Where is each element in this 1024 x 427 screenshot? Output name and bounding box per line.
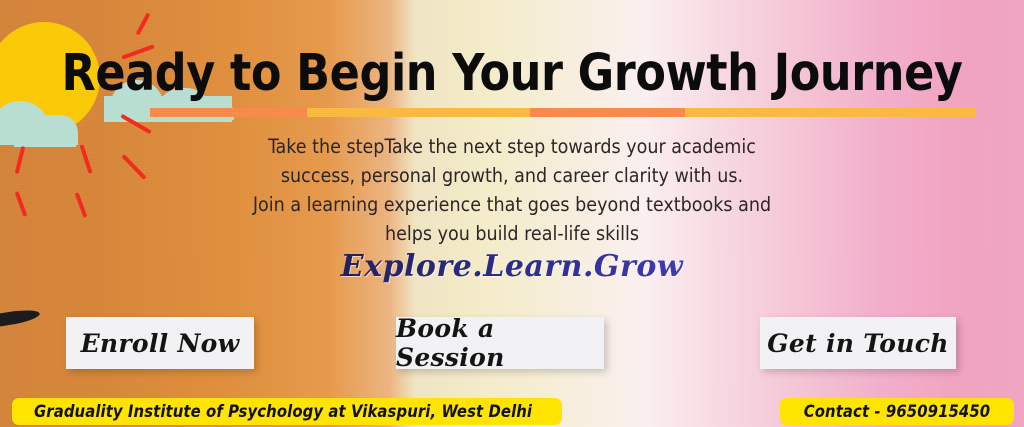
- swoosh-icon: [0, 307, 41, 330]
- get-in-touch-button[interactable]: Get in Touch: [760, 317, 956, 369]
- promo-banner: Ready to Begin Your Growth Journey Take …: [0, 0, 1024, 427]
- address-badge: Graduality Institute of Psychology at Vi…: [12, 398, 562, 425]
- body-line-4: helps you build real-life skills: [0, 219, 1024, 248]
- segment-amber-2: [685, 108, 976, 117]
- body-copy: Take the stepTake the next step towards …: [0, 132, 1024, 248]
- enroll-now-button[interactable]: Enroll Now: [66, 317, 254, 369]
- body-line-3: Join a learning experience that goes bey…: [0, 190, 1024, 219]
- body-line-2: success, personal growth, and career cla…: [0, 161, 1024, 190]
- body-line-1: Take the stepTake the next step towards …: [0, 132, 1024, 161]
- book-a-session-button[interactable]: Book a Session: [396, 317, 604, 369]
- page-title: Ready to Begin Your Growth Journey: [15, 48, 1008, 99]
- segment-salmon-2: [530, 108, 685, 117]
- title-underline-bar: [150, 108, 976, 117]
- segment-salmon-1: [150, 108, 307, 117]
- tagline-script: Explore.Learn.Grow: [0, 249, 1024, 284]
- contact-badge[interactable]: Contact - 9650915450: [780, 398, 1014, 425]
- segment-amber-1: [307, 108, 530, 117]
